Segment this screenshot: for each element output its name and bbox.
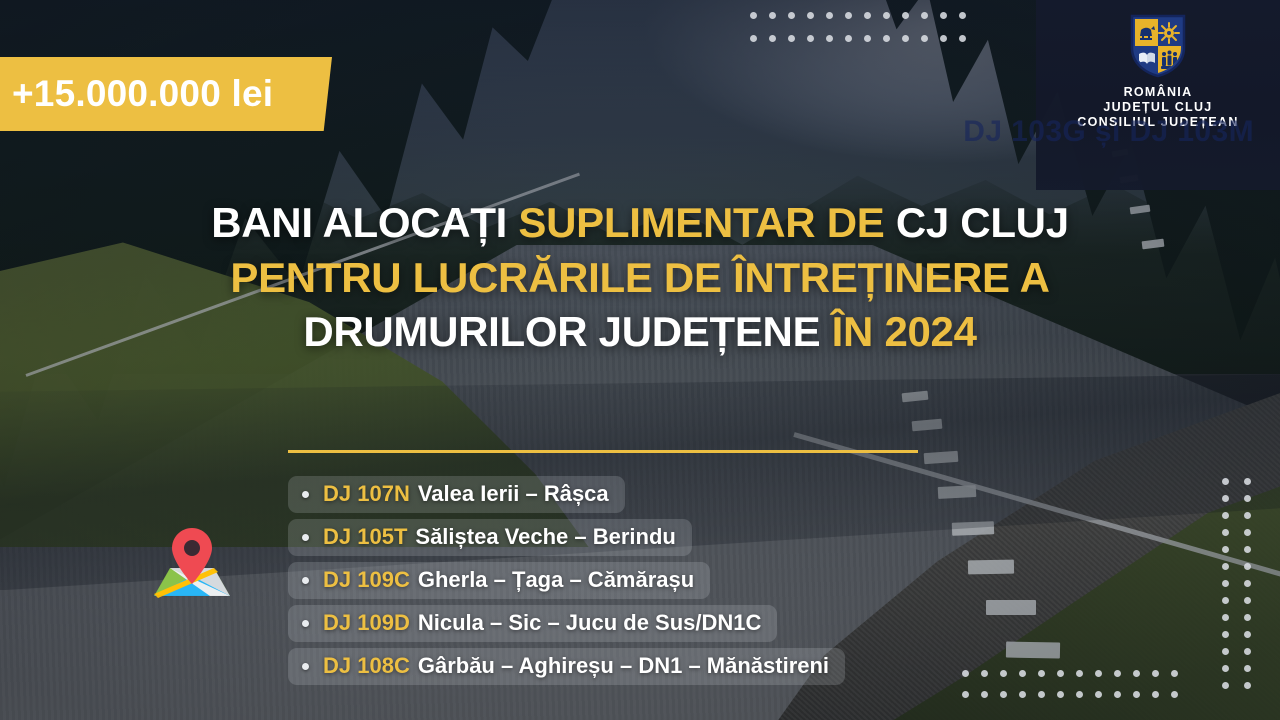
decor-dot (883, 12, 890, 19)
decor-dot (1244, 529, 1251, 536)
decor-dot (1222, 512, 1229, 519)
decor-dot (1222, 563, 1229, 570)
decor-dot (959, 12, 966, 19)
decor-dot (1244, 563, 1251, 570)
decor-dot (1222, 665, 1229, 672)
decor-dot (962, 670, 969, 677)
decor-dot (769, 12, 776, 19)
decor-dot (1244, 580, 1251, 587)
amount-banner: +15.000.000 lei (0, 57, 332, 131)
decor-dot (1222, 597, 1229, 604)
headline-line-2-part-a: PENTRU LUCRĂRILE DE ÎNTREȚINERE A (230, 254, 1049, 301)
decor-dot (1095, 691, 1102, 698)
decor-dot (1095, 670, 1102, 677)
decor-dot (826, 12, 833, 19)
decor-dot (1244, 631, 1251, 638)
headline-line-1-part-a: BANI ALOCAȚI (211, 199, 518, 246)
decor-dot (921, 12, 928, 19)
decor-dot (769, 35, 776, 42)
headline-line-3: DRUMURILOR JUDEȚENE ÎN 2024 (0, 305, 1280, 360)
decor-dot (1057, 670, 1064, 677)
decor-dot (1076, 691, 1083, 698)
decor-dot (1222, 580, 1229, 587)
decor-dot (1244, 665, 1251, 672)
road-name: Nicula – Sic – Jucu de Sus/DN1C (418, 610, 762, 636)
decor-dot (1244, 597, 1251, 604)
bullet-icon (302, 491, 309, 498)
decor-dot (1244, 614, 1251, 621)
folded-map-with-location-pin-icon (140, 518, 244, 610)
decor-dot (1000, 670, 1007, 677)
headline-line-2: PENTRU LUCRĂRILE DE ÎNTREȚINERE A (0, 251, 1280, 306)
road-list-item: DJ 107NValea Ierii – Râșca (288, 476, 625, 513)
decor-dot (1133, 691, 1140, 698)
decor-dot (1114, 691, 1121, 698)
decor-dot (1244, 478, 1251, 485)
road-list: DJ 107NValea Ierii – RâșcaDJ 105TSăliște… (288, 476, 948, 685)
bullet-icon (302, 577, 309, 584)
decor-dot (1222, 529, 1229, 536)
decor-dot (883, 35, 890, 42)
ghost-text-dj-roads: DJ 103G și DJ 103M (963, 115, 1254, 149)
road-list-item: DJ 109DNicula – Sic – Jucu de Sus/DN1C (288, 605, 777, 642)
decor-dot (845, 12, 852, 19)
decor-dot (921, 35, 928, 42)
decor-dot (788, 35, 795, 42)
decor-dot (1057, 691, 1064, 698)
headline-line-1: BANI ALOCAȚI SUPLIMENTAR DE CJ CLUJ (0, 196, 1280, 251)
decor-dot (981, 670, 988, 677)
decor-dot (1244, 648, 1251, 655)
road-list-item: DJ 108CGârbău – Aghireșu – DN1 – Mănăsti… (288, 648, 845, 685)
decor-dot (1038, 691, 1045, 698)
headline-line-3-part-b: ÎN 2024 (832, 308, 977, 355)
logo-line-romania: ROMÂNIA (1077, 85, 1238, 100)
bullet-icon (302, 663, 309, 670)
road-name: Săliștea Veche – Berindu (415, 524, 675, 550)
cluj-county-coat-of-arms-icon (1130, 14, 1186, 78)
decor-dot (1019, 691, 1026, 698)
road-list-item: DJ 109CGherla – Țaga – Cămărașu (288, 562, 710, 599)
decor-dot (1038, 670, 1045, 677)
decor-dot (1222, 682, 1229, 689)
logo-line-judetul-cluj: JUDEȚUL CLUJ (1077, 100, 1238, 115)
amount-banner-label: +15.000.000 lei (0, 73, 273, 115)
decor-dot (902, 12, 909, 19)
decor-dot (940, 12, 947, 19)
decor-dot (902, 35, 909, 42)
dot-grid-top (750, 12, 978, 58)
decor-dot (1171, 691, 1178, 698)
road-name: Valea Ierii – Râșca (418, 481, 609, 507)
headline-line-1-part-b: SUPLIMENTAR DE (518, 199, 895, 246)
decor-dot (1244, 682, 1251, 689)
decor-dot (981, 691, 988, 698)
decor-dot (1222, 478, 1229, 485)
road-name: Gherla – Țaga – Cămărașu (418, 567, 694, 593)
decor-dot (962, 691, 969, 698)
dot-grid-right (1222, 478, 1266, 699)
decor-dot (1133, 670, 1140, 677)
decor-dot (1152, 670, 1159, 677)
decor-dot (940, 35, 947, 42)
decor-dot (826, 35, 833, 42)
decor-dot (1244, 512, 1251, 519)
decor-dot (1244, 546, 1251, 553)
decor-dot (1171, 670, 1178, 677)
decor-dot (1222, 495, 1229, 502)
poster-canvas: +15.000.000 lei (0, 0, 1280, 720)
dot-grid-bottom (962, 670, 1190, 712)
decor-dot (1152, 691, 1159, 698)
road-code: DJ 105T (323, 524, 407, 550)
headline: BANI ALOCAȚI SUPLIMENTAR DE CJ CLUJ PENT… (0, 196, 1280, 360)
road-list-item: DJ 105TSăliștea Veche – Berindu (288, 519, 692, 556)
decor-dot (750, 35, 757, 42)
institution-logo: ROMÂNIA JUDEȚUL CLUJ CONSILIUL JUDEȚEAN (1036, 14, 1280, 130)
headline-line-3-part-a: DRUMURILOR JUDEȚENE (303, 308, 831, 355)
decor-dot (750, 12, 757, 19)
decor-dot (1114, 670, 1121, 677)
decor-dot (1222, 648, 1229, 655)
decor-dot (1000, 691, 1007, 698)
road-name: Gârbău – Aghireșu – DN1 – Mănăstireni (418, 653, 829, 679)
decor-dot (1076, 670, 1083, 677)
decor-dot (864, 35, 871, 42)
decor-dot (807, 35, 814, 42)
decor-dot (1222, 546, 1229, 553)
road-code: DJ 109C (323, 567, 410, 593)
road-code: DJ 109D (323, 610, 410, 636)
decor-dot (807, 12, 814, 19)
decor-dot (1019, 670, 1026, 677)
decor-dot (864, 12, 871, 19)
headline-line-1-part-c: CJ CLUJ (896, 199, 1069, 246)
bullet-icon (302, 534, 309, 541)
decor-dot (959, 35, 966, 42)
decor-dot (1244, 495, 1251, 502)
road-code: DJ 108C (323, 653, 410, 679)
bullet-icon (302, 620, 309, 627)
decor-dot (1222, 631, 1229, 638)
decor-dot (1222, 614, 1229, 621)
yellow-divider (288, 450, 918, 453)
decor-dot (788, 12, 795, 19)
road-code: DJ 107N (323, 481, 410, 507)
decor-dot (845, 35, 852, 42)
